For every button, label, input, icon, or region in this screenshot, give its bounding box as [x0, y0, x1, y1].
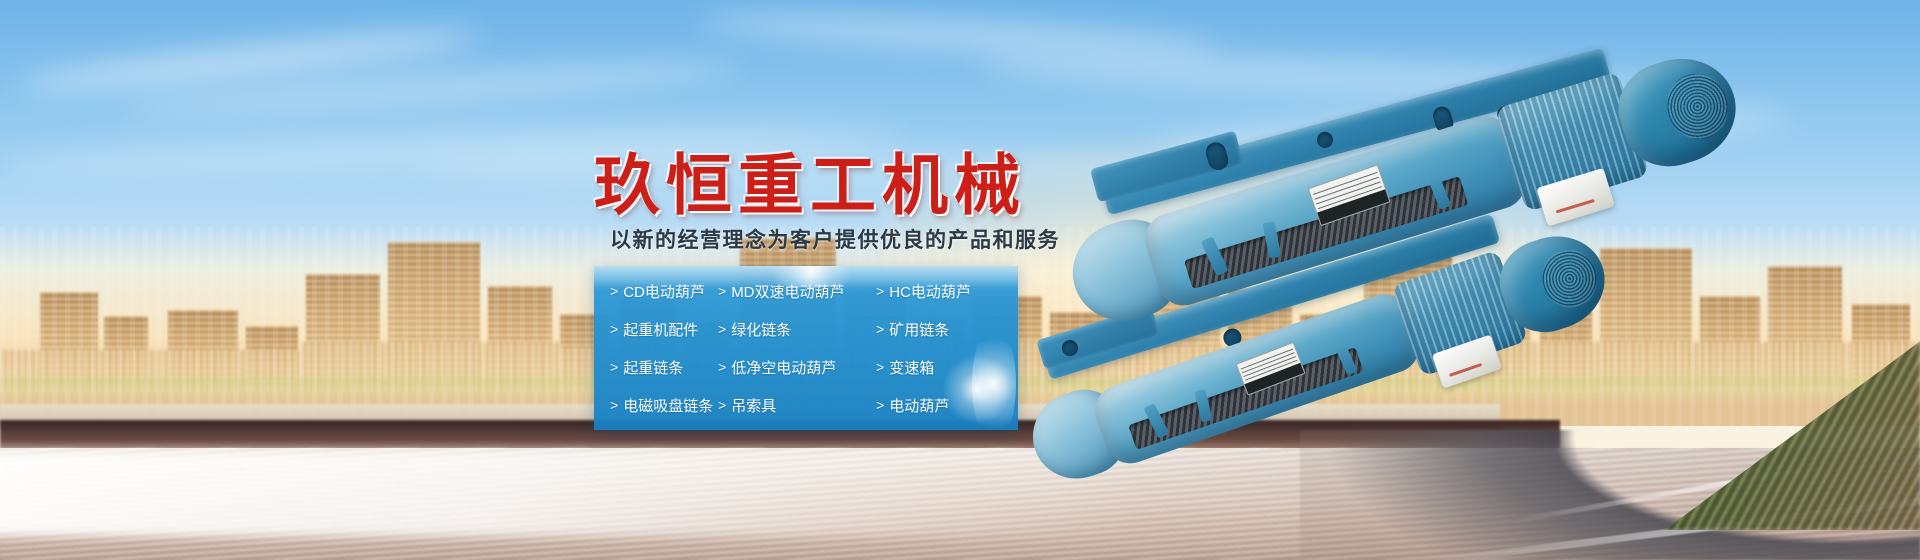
product-link-label: 起重机配件: [623, 319, 698, 340]
product-links-grid: >CD电动葫芦 >MD双速电动葫芦 >HC电动葫芦 >起重机配件 >绿化链条 >…: [594, 266, 1018, 430]
product-link-crane-parts[interactable]: >起重机配件: [610, 319, 718, 340]
product-link-gearbox[interactable]: >变速箱: [854, 357, 1018, 378]
product-link-slings[interactable]: >吊索具: [718, 395, 854, 416]
product-link-low-headroom[interactable]: >低净空电动葫芦: [718, 357, 854, 378]
page-title: 玖恒重工机械: [594, 132, 1026, 228]
hero-banner: 玖恒重工机械 以新的经营理念为客户提供优良的产品和服务 >CD电动葫芦 >MD双…: [0, 0, 1920, 560]
product-link-label: 矿用链条: [889, 319, 949, 340]
product-link-mining-chain[interactable]: >矿用链条: [854, 319, 1018, 340]
product-link-label: CD电动葫芦: [623, 281, 705, 302]
chevron-right-icon: >: [610, 321, 618, 337]
product-link-label: 吊索具: [731, 395, 776, 416]
product-link-lifting-chain[interactable]: >起重链条: [610, 357, 718, 378]
product-link-cd-hoist[interactable]: >CD电动葫芦: [610, 281, 718, 302]
chevron-right-icon: >: [876, 321, 884, 337]
product-link-label: 变速箱: [889, 357, 934, 378]
chevron-right-icon: >: [876, 359, 884, 375]
chevron-right-icon: >: [718, 321, 726, 337]
product-link-green-chain[interactable]: >绿化链条: [718, 319, 854, 340]
chevron-right-icon: >: [718, 359, 726, 375]
chevron-right-icon: >: [876, 283, 884, 299]
product-link-label: 绿化链条: [731, 319, 791, 340]
product-link-label: 电磁吸盘链条: [623, 395, 713, 416]
road-highlight: [0, 452, 1150, 536]
product-link-md-dual-speed[interactable]: >MD双速电动葫芦: [718, 281, 854, 302]
chevron-right-icon: >: [610, 359, 618, 375]
product-link-label: HC电动葫芦: [889, 281, 971, 302]
product-link-label: 电动葫芦: [889, 395, 949, 416]
product-link-hc-hoist[interactable]: >HC电动葫芦: [854, 281, 1018, 302]
page-subtitle: 以新的经营理念为客户提供优良的产品和服务: [610, 224, 1060, 254]
product-link-label: MD双速电动葫芦: [731, 281, 844, 302]
chevron-right-icon: >: [610, 397, 618, 413]
chevron-right-icon: >: [610, 283, 618, 299]
chevron-right-icon: >: [876, 397, 884, 413]
product-link-label: 起重链条: [623, 357, 683, 378]
chevron-right-icon: >: [718, 283, 726, 299]
product-link-label: 低净空电动葫芦: [731, 357, 836, 378]
product-link-electric-hoist[interactable]: >电动葫芦: [854, 395, 1018, 416]
product-link-magnetic-chain[interactable]: >电磁吸盘链条: [610, 395, 718, 416]
chevron-right-icon: >: [718, 397, 726, 413]
product-links-panel: >CD电动葫芦 >MD双速电动葫芦 >HC电动葫芦 >起重机配件 >绿化链条 >…: [594, 266, 1018, 430]
